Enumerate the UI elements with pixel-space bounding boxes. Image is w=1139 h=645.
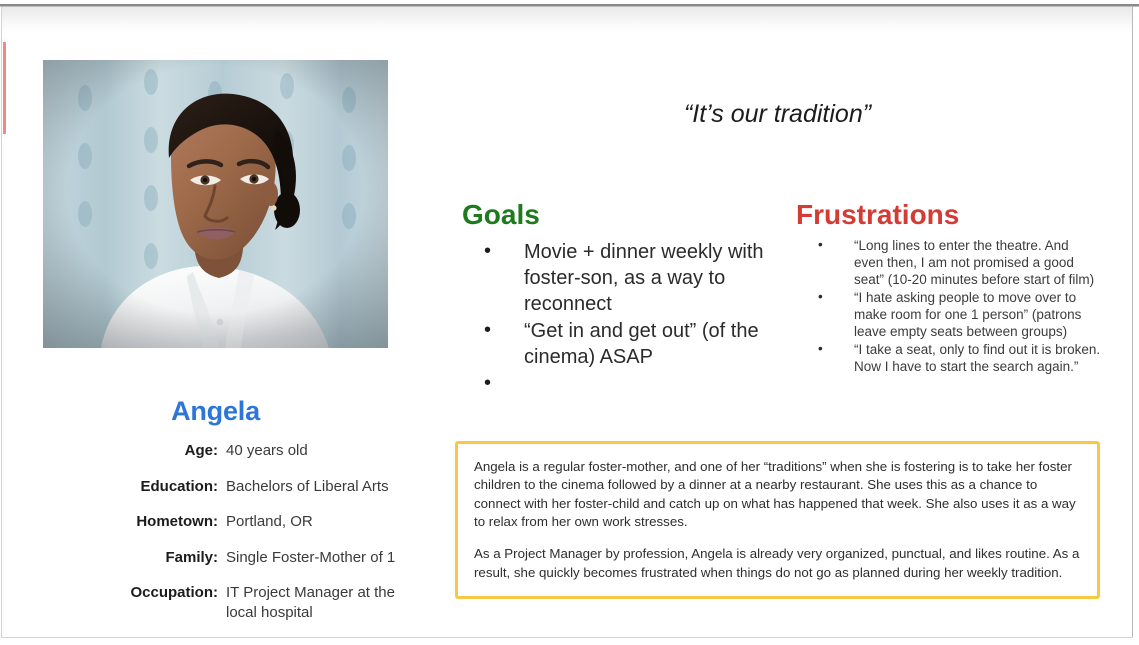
bio-row-family: Family: Single Foster-Mother of 1: [40, 548, 415, 568]
bio-row-occupation: Occupation: IT Project Manager at the lo…: [40, 583, 415, 622]
bio-label-hometown: Hometown:: [40, 512, 218, 532]
portrait-photo-icon: [43, 60, 388, 348]
frustrations-list-item: “I take a seat, only to find out it is b…: [796, 341, 1101, 375]
goals-list: Movie + dinner weekly with foster-son, a…: [462, 239, 772, 397]
bio-row-age: Age: 40 years old: [40, 441, 415, 461]
goals-heading: Goals: [462, 200, 772, 231]
bio-value-hometown: Portland, OR: [218, 512, 415, 532]
goals-section: Goals Movie + dinner weekly with foster-…: [462, 200, 772, 398]
bio-row-hometown: Hometown: Portland, OR: [40, 512, 415, 532]
bio-value-age: 40 years old: [218, 441, 415, 461]
bio-value-family: Single Foster-Mother of 1: [218, 548, 415, 568]
bio-value-occupation: IT Project Manager at the local hospital: [218, 583, 415, 622]
page-border-right: [1132, 7, 1133, 637]
persona-bio-table: Age: 40 years old Education: Bachelors o…: [40, 441, 415, 638]
frustrations-list-item: “I hate asking people to move over to ma…: [796, 289, 1101, 340]
persona-name: Angela: [43, 396, 388, 427]
goals-list-item: [462, 371, 772, 397]
goals-list-item: Movie + dinner weekly with foster-son, a…: [462, 239, 772, 317]
frustrations-section: Frustrations “Long lines to enter the th…: [796, 200, 1101, 376]
goals-list-item: “Get in and get out” (of the cinema) ASA…: [462, 318, 772, 370]
persona-quote: “It’s our tradition”: [455, 100, 1100, 129]
summary-paragraph: Angela is a regular foster-mother, and o…: [474, 458, 1081, 531]
bio-value-education: Bachelors of Liberal Arts: [218, 477, 415, 497]
persona-photo: [43, 60, 388, 348]
frustrations-list-item: “Long lines to enter the theatre. And ev…: [796, 237, 1101, 288]
page-top-gradient: [1, 7, 1132, 33]
bio-row-education: Education: Bachelors of Liberal Arts: [40, 477, 415, 497]
frustrations-list: “Long lines to enter the theatre. And ev…: [796, 237, 1101, 375]
page-border-left: [1, 7, 2, 637]
bio-label-age: Age:: [40, 441, 218, 461]
persona-summary-box: Angela is a regular foster-mother, and o…: [455, 441, 1100, 599]
summary-paragraph: As a Project Manager by profession, Ange…: [474, 545, 1081, 582]
bio-label-occupation: Occupation:: [40, 583, 218, 603]
persona-slide: Angela Age: 40 years old Education: Bach…: [0, 0, 1139, 645]
bio-label-education: Education:: [40, 477, 218, 497]
bio-label-family: Family:: [40, 548, 218, 568]
left-edge-marker[interactable]: [3, 42, 6, 134]
frustrations-heading: Frustrations: [796, 200, 1101, 231]
